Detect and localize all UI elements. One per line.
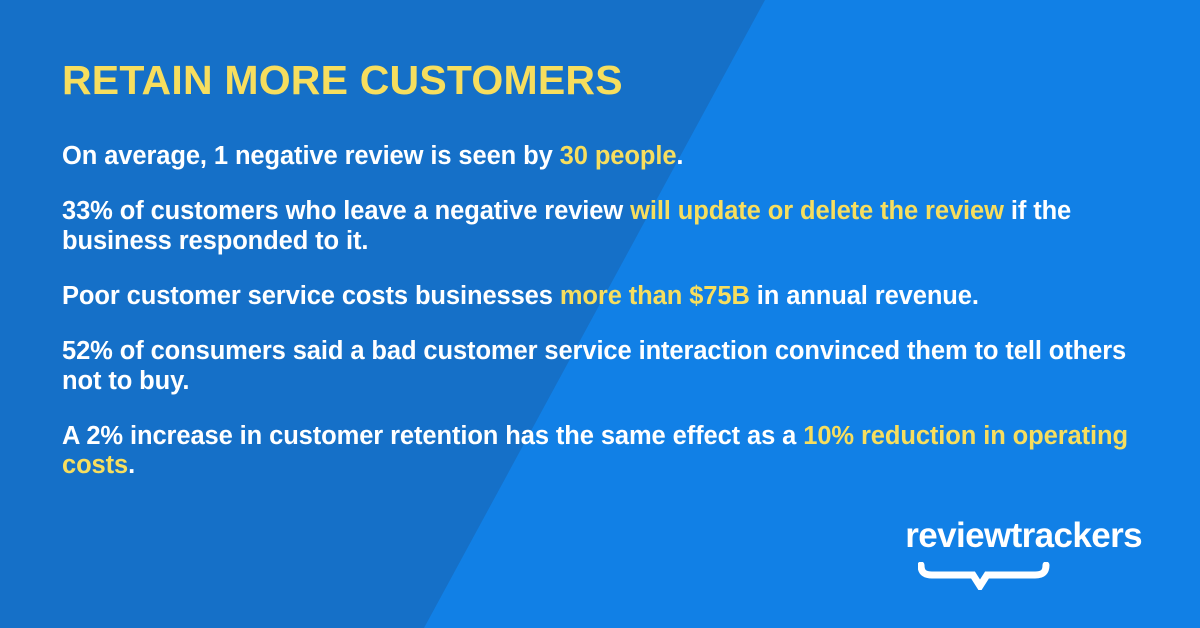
page-title: Retain More Customers <box>62 58 623 103</box>
statistic-negative-review-reach: On average, 1 negative review is seen by… <box>62 142 1148 171</box>
brand-logo: reviewtrackers <box>910 518 1142 590</box>
highlighted-text: 30 people <box>560 142 677 170</box>
plain-text: On average, 1 negative review is seen by <box>62 142 560 170</box>
plain-text: in annual revenue. <box>750 282 979 310</box>
highlighted-text: will update or delete the review <box>630 197 1004 225</box>
plain-text: A 2% increase in customer retention has … <box>62 422 803 450</box>
plain-text: 52% of consumers said a bad customer ser… <box>62 337 1126 394</box>
speech-bubble-swoosh-icon <box>918 562 1050 590</box>
statistic-retention-vs-costs: A 2% increase in customer retention has … <box>62 422 1148 481</box>
statistic-review-update-rate: 33% of customers who leave a negative re… <box>62 197 1148 256</box>
statistic-word-of-mouth-warning: 52% of consumers said a bad customer ser… <box>62 337 1148 396</box>
plain-text: Poor customer service costs businesses <box>62 282 560 310</box>
logo-wordmark: reviewtrackers <box>905 518 1142 553</box>
statistics-list: On average, 1 negative review is seen by… <box>62 142 1148 481</box>
social-graphic-canvas: Retain More Customers On average, 1 nega… <box>0 0 1200 628</box>
statistic-poor-service-cost: Poor customer service costs businesses m… <box>62 282 1148 311</box>
plain-text: . <box>676 142 683 170</box>
plain-text: . <box>128 451 135 479</box>
plain-text: 33% of customers who leave a negative re… <box>62 197 630 225</box>
highlighted-text: more than $75B <box>560 282 750 310</box>
